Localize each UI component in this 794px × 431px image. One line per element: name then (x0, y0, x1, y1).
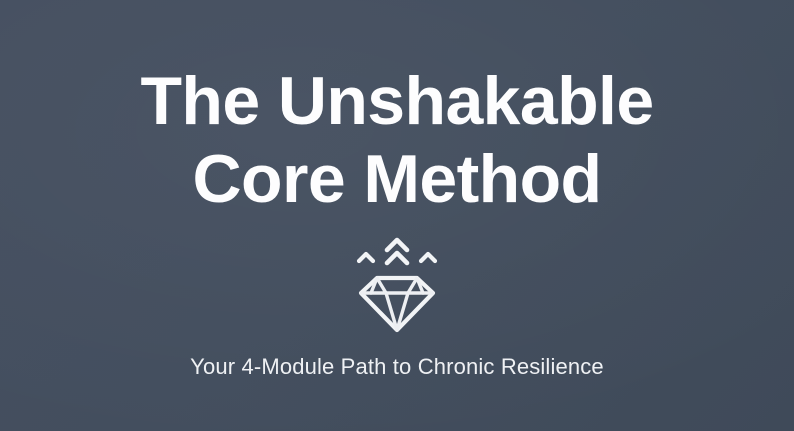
diamond-crown-facet-inner-right (408, 278, 417, 293)
title-line-1: The Unshakable (0, 62, 794, 140)
chevron-right-small-icon (421, 254, 435, 261)
chevron-double-upper-icon (387, 240, 407, 250)
diamond-outline (361, 278, 433, 330)
diamond-crown-facet-inner-left (377, 278, 386, 293)
subtitle: Your 4-Module Path to Chronic Resilience (190, 352, 604, 382)
diamond-icon (345, 232, 449, 336)
chevron-left-small-icon (359, 254, 373, 261)
title-slide: The Unshakable Core Method Your (0, 0, 794, 431)
title-line-2: Core Method (0, 140, 794, 218)
chevron-double-lower-icon (387, 253, 407, 263)
page-title: The Unshakable Core Method (0, 62, 794, 218)
